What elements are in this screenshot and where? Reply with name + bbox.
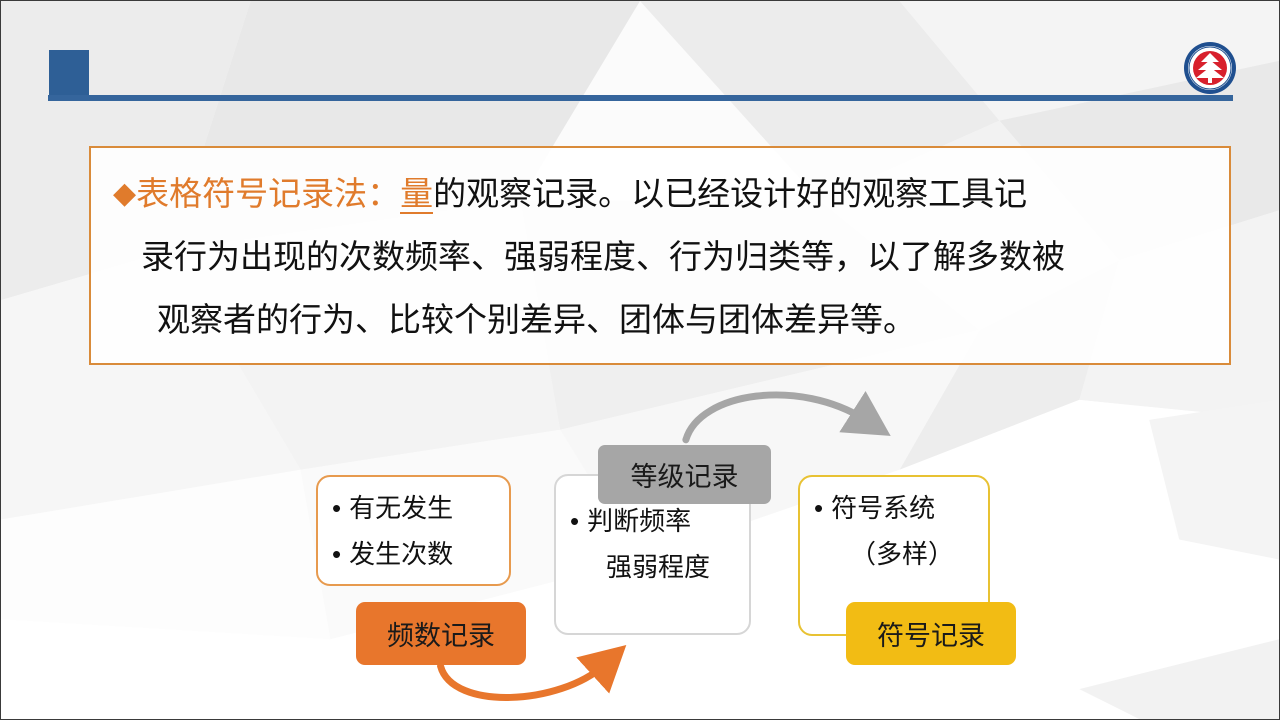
header-accent-square [49, 50, 89, 95]
symbol-record-tag: 符号记录 [846, 602, 1016, 665]
gray-arc-arrow [686, 395, 866, 440]
list-item: 符号系统 [800, 485, 988, 531]
level-record-tag: 等级记录 [598, 445, 771, 504]
header-rule [48, 95, 1233, 101]
content-line-1-orange: 表格符号记录法： [136, 175, 400, 212]
content-line-1: ◆表格符号记录法：量的观察记录。以已经设计好的观察工具记 [113, 162, 1217, 225]
list-item: 强弱程度 [556, 544, 749, 590]
list-item: 发生次数 [318, 531, 509, 577]
slide: ◆表格符号记录法：量的观察记录。以已经设计好的观察工具记 录行为出现的次数频率、… [0, 0, 1280, 720]
frequency-card: 有无发生 发生次数 [316, 475, 511, 586]
frequency-record-tag: 频数记录 [356, 602, 526, 665]
list-item: （多样） [800, 531, 988, 577]
content-line-1-emphasis: 量 [400, 175, 433, 214]
orange-arc-arrow [441, 665, 605, 697]
list-item: 判断频率 [556, 498, 749, 544]
list-item: 有无发生 [318, 485, 509, 531]
frequency-card-bullets: 有无发生 发生次数 [318, 477, 509, 577]
content-line-2: 录行为出现的次数频率、强弱程度、行为归类等，以了解多数被 [141, 225, 1217, 288]
diamond-bullet-icon: ◆ [113, 177, 136, 210]
main-content-box: ◆表格符号记录法：量的观察记录。以已经设计好的观察工具记 录行为出现的次数频率、… [89, 146, 1231, 365]
symbol-card-bullets: 符号系统 （多样） [800, 477, 988, 577]
shandong-yingcai-university-logo-icon [1183, 41, 1237, 95]
content-line-3: 观察者的行为、比较个别差异、团体与团体差异等。 [157, 288, 1217, 351]
content-line-1-rest: 的观察记录。以已经设计好的观察工具记 [433, 175, 1027, 212]
